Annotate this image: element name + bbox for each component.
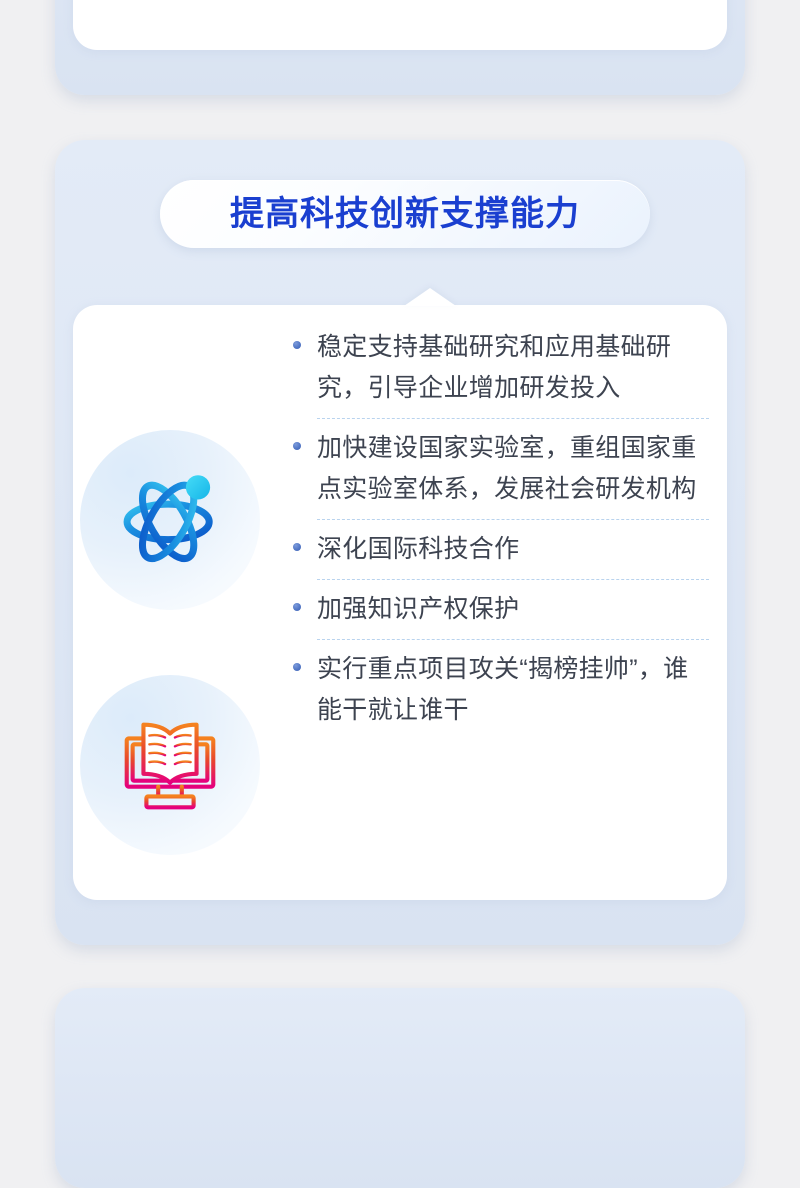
- list-item: 加快建设国家实验室，重组国家重点实验室体系，发展社会研发机构: [281, 428, 709, 510]
- bullet-icon: [293, 663, 301, 671]
- list-item-text: 加快建设国家实验室，重组国家重点实验室体系，发展社会研发机构: [317, 434, 697, 503]
- list-divider: [317, 519, 709, 520]
- previous-card-partial: [55, 0, 745, 95]
- bullet-icon: [293, 543, 301, 551]
- section-card: 提高科技创新支撑能力: [55, 140, 745, 945]
- panel-notch-arrow: [404, 288, 456, 306]
- bullet-icon: [293, 341, 301, 349]
- list-item-text: 实行重点项目攻关“揭榜挂帅”，谁能干就让谁干: [317, 655, 688, 724]
- book-monitor-icon-badge: [80, 675, 260, 855]
- list-divider: [317, 579, 709, 580]
- list-item: 深化国际科技合作: [281, 529, 709, 570]
- list-item-text: 加强知识产权保护: [317, 595, 519, 623]
- list-divider: [317, 418, 709, 419]
- list-item: 稳定支持基础研究和应用基础研究，引导企业增加研发投入: [281, 327, 709, 409]
- list-item: 实行重点项目攻关“揭榜挂帅”，谁能干就让谁干: [281, 649, 709, 731]
- content-panel: 稳定支持基础研究和应用基础研究，引导企业增加研发投入 加快建设国家实验室，重组国…: [73, 305, 727, 900]
- list-item-text: 稳定支持基础研究和应用基础研究，引导企业增加研发投入: [317, 333, 671, 402]
- list-item: 加强知识产权保护: [281, 589, 709, 630]
- atom-icon-badge: [80, 430, 260, 610]
- book-monitor-icon: [111, 706, 229, 824]
- list-item-text: 深化国际科技合作: [317, 535, 519, 563]
- page-title: 提高科技创新支撑能力: [230, 197, 580, 231]
- bullet-icon: [293, 442, 301, 450]
- atom-icon: [114, 464, 226, 576]
- bullet-icon: [293, 603, 301, 611]
- bullet-list: 稳定支持基础研究和应用基础研究，引导企业增加研发投入 加快建设国家实验室，重组国…: [281, 327, 709, 731]
- section-title-pill: 提高科技创新支撑能力: [160, 180, 650, 248]
- next-card-partial: [55, 988, 745, 1188]
- previous-card-panel: [73, 0, 727, 50]
- list-divider: [317, 639, 709, 640]
